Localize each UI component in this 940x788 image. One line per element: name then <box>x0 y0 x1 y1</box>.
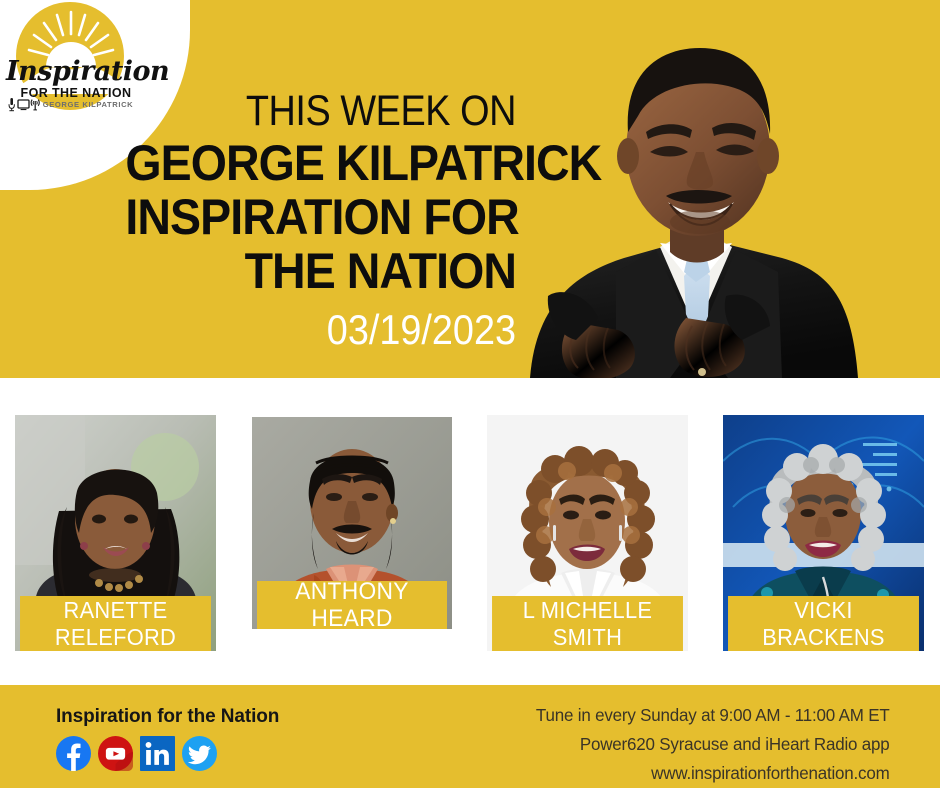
footer-brand: Inspiration for the Nation <box>56 706 279 728</box>
broadcast-station: Power620 Syracuse and iHeart Radio app <box>536 730 890 759</box>
linkedin-icon[interactable] <box>140 736 175 771</box>
twitter-icon[interactable] <box>182 736 217 771</box>
guest-card[interactable]: RANETTE RELEFORD <box>15 415 216 651</box>
logo-script-word: Inspiration <box>6 58 146 85</box>
guest-card[interactable]: VICKI BRACKENS <box>723 415 924 651</box>
facebook-icon[interactable] <box>56 736 91 771</box>
headline-line-1: GEORGE KILPATRICK <box>125 136 516 190</box>
episode-date: 03/19/2023 <box>138 298 516 356</box>
headline-eyebrow: THIS WEEK ON <box>146 86 516 136</box>
footer-band: Inspiration for the Nation <box>0 685 940 788</box>
guest-card[interactable]: ANTHONY HEARD <box>252 417 452 629</box>
broadcast-info: Tune in every Sunday at 9:00 AM - 11:00 … <box>536 701 890 788</box>
guest-name-bar: RANETTE RELEFORD <box>20 596 211 651</box>
guest-name-bar: L MICHELLE SMITH <box>492 596 683 651</box>
guest-card[interactable]: L MICHELLE SMITH <box>487 415 688 651</box>
broadcast-time: Tune in every Sunday at 9:00 AM - 11:00 … <box>536 701 890 730</box>
headline-line-2: INSPIRATION FOR <box>125 190 516 244</box>
television-icon <box>18 100 29 110</box>
headline-block: THIS WEEK ON GEORGE KILPATRICK INSPIRATI… <box>96 86 516 356</box>
guest-name-bar: VICKI BRACKENS <box>728 596 919 651</box>
guest-name: RANETTE RELEFORD <box>55 597 176 651</box>
guest-name: L MICHELLE SMITH <box>523 597 653 651</box>
headline-line-3: THE NATION <box>125 244 516 298</box>
guest-name: VICKI BRACKENS <box>762 597 884 651</box>
microphone-icon <box>9 98 14 111</box>
youtube-icon[interactable] <box>98 736 133 771</box>
website-url[interactable]: www.inspirationforthenation.com <box>536 759 890 788</box>
guest-card-row: RANETTE RELEFORD <box>0 378 940 685</box>
social-links <box>56 736 217 771</box>
guest-name-bar: ANTHONY HEARD <box>257 581 447 629</box>
promo-poster: THIS WEEK ON GEORGE KILPATRICK INSPIRATI… <box>0 0 940 788</box>
hero-banner: THIS WEEK ON GEORGE KILPATRICK INSPIRATI… <box>0 0 940 378</box>
guest-name: ANTHONY HEARD <box>257 578 447 629</box>
